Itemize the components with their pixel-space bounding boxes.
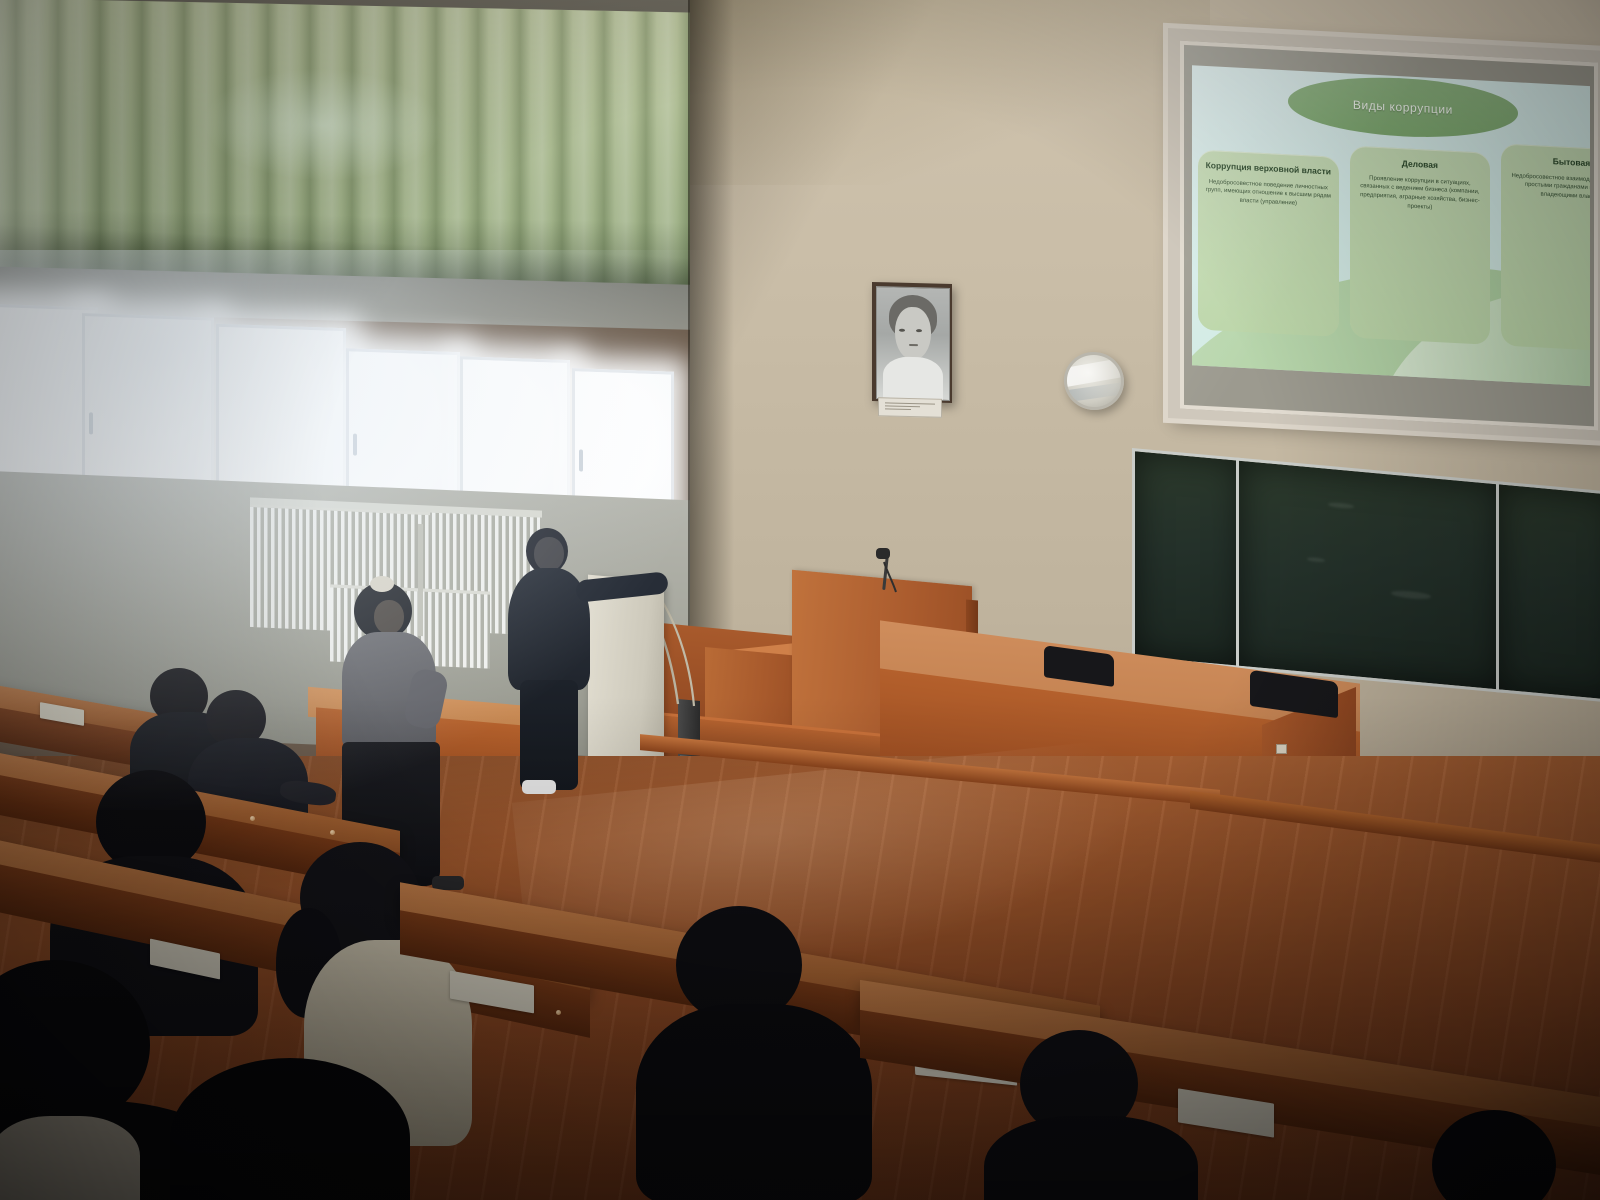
slide-card-2-title: Деловая bbox=[1402, 158, 1438, 171]
chalkboard-panel-2 bbox=[1236, 457, 1504, 692]
slide-card-1: Коррупция верховной власти Недобросовест… bbox=[1198, 150, 1339, 337]
portrait-face bbox=[895, 306, 931, 360]
slide-card-group: Коррупция верховной власти Недобросовест… bbox=[1198, 128, 1590, 352]
portrait-collar bbox=[883, 356, 943, 401]
presenter-legs bbox=[520, 680, 578, 790]
projection-screen[interactable]: Виды коррупции Коррупция верховной власт… bbox=[1168, 28, 1600, 441]
portrait-eye-right bbox=[916, 329, 922, 332]
classroom-photo: Виды коррупции Коррупция верховной власт… bbox=[0, 0, 1600, 1200]
slide-card-1-title: Коррупция верховной власти bbox=[1206, 160, 1331, 177]
bench-stud-3 bbox=[556, 1010, 561, 1015]
slide-card-3-body: Недобросовестное взаимодействие между пр… bbox=[1508, 171, 1590, 204]
slide-card-3-title: Бытовая bbox=[1553, 156, 1590, 169]
slide-card-2-body: Проявление коррупции в ситуациях, связан… bbox=[1357, 174, 1484, 215]
desk-latch-icon bbox=[1276, 744, 1287, 754]
teacher-face bbox=[374, 600, 404, 634]
green-curtains bbox=[0, 0, 706, 313]
plaque-text-lines bbox=[885, 402, 935, 412]
slide-title-shape: Виды коррупции bbox=[1288, 72, 1519, 142]
slide-card-2: Деловая Проявление коррупции в ситуациях… bbox=[1350, 146, 1491, 345]
presenter-face bbox=[534, 537, 564, 571]
chalkboard-panel-3 bbox=[1496, 481, 1600, 703]
screen-frame: Виды коррупции Коррупция верховной власт… bbox=[1180, 41, 1598, 431]
microphone-icon[interactable] bbox=[876, 548, 890, 559]
student-10-sleeve-shape bbox=[0, 1116, 140, 1200]
slide-title: Виды коррупции bbox=[1353, 98, 1453, 117]
bench-stud-2 bbox=[330, 830, 335, 835]
slide-card-3: Бытовая Недобросовестное взаимодействие … bbox=[1501, 143, 1590, 352]
student-7-torso bbox=[984, 1116, 1198, 1200]
wall-shading bbox=[690, 0, 1210, 185]
wall-clock bbox=[1064, 351, 1124, 410]
bench-stud-1 bbox=[250, 816, 255, 821]
student-6-torso bbox=[636, 1004, 872, 1200]
radiator-pipe bbox=[418, 524, 423, 636]
portrait-plaque bbox=[878, 397, 942, 418]
chalkboard bbox=[1132, 448, 1600, 697]
wall-portrait bbox=[872, 282, 952, 403]
portrait-mouth bbox=[909, 343, 918, 345]
teacher-hair-bun bbox=[370, 576, 394, 592]
portrait-image bbox=[876, 286, 950, 401]
slide-card-1-body: Недобросовестное поведение личностных гр… bbox=[1205, 178, 1332, 211]
presenter-shoe bbox=[522, 780, 556, 794]
presentation-slide: Виды коррупции Коррупция верховной власт… bbox=[1192, 65, 1590, 386]
chalkboard-panel-1 bbox=[1132, 448, 1244, 669]
